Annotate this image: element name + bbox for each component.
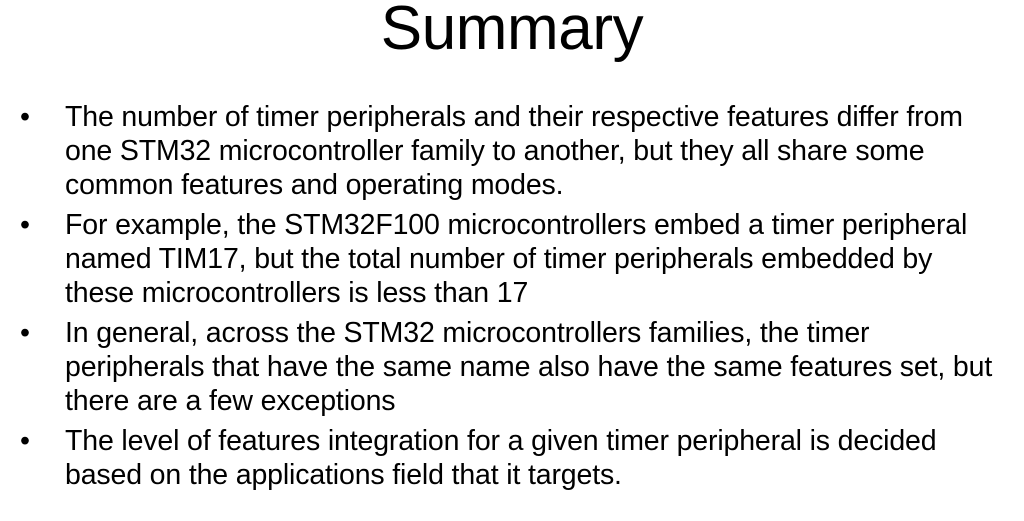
list-item-text: In general, across the STM32 microcontro… xyxy=(65,316,1008,418)
list-item-text: The level of features integration for a … xyxy=(65,424,1008,492)
list-item: • For example, the STM32F100 microcontro… xyxy=(0,208,1024,310)
page-title: Summary xyxy=(0,0,1024,62)
list-item: • The level of features integration for … xyxy=(0,424,1024,492)
bullet-list: • The number of timer peripherals and th… xyxy=(0,100,1024,492)
bullet-point-icon: • xyxy=(20,316,34,350)
bullet-point-icon: • xyxy=(20,424,34,458)
presentation-slide: Summary • The number of timer peripheral… xyxy=(0,0,1024,521)
bullet-point-icon: • xyxy=(20,208,34,242)
list-item: • In general, across the STM32 microcont… xyxy=(0,316,1024,418)
list-item-text: For example, the STM32F100 microcontroll… xyxy=(65,208,1008,310)
list-item-text: The number of timer peripherals and thei… xyxy=(65,100,1008,202)
list-item: • The number of timer peripherals and th… xyxy=(0,100,1024,202)
bullet-point-icon: • xyxy=(20,100,34,134)
